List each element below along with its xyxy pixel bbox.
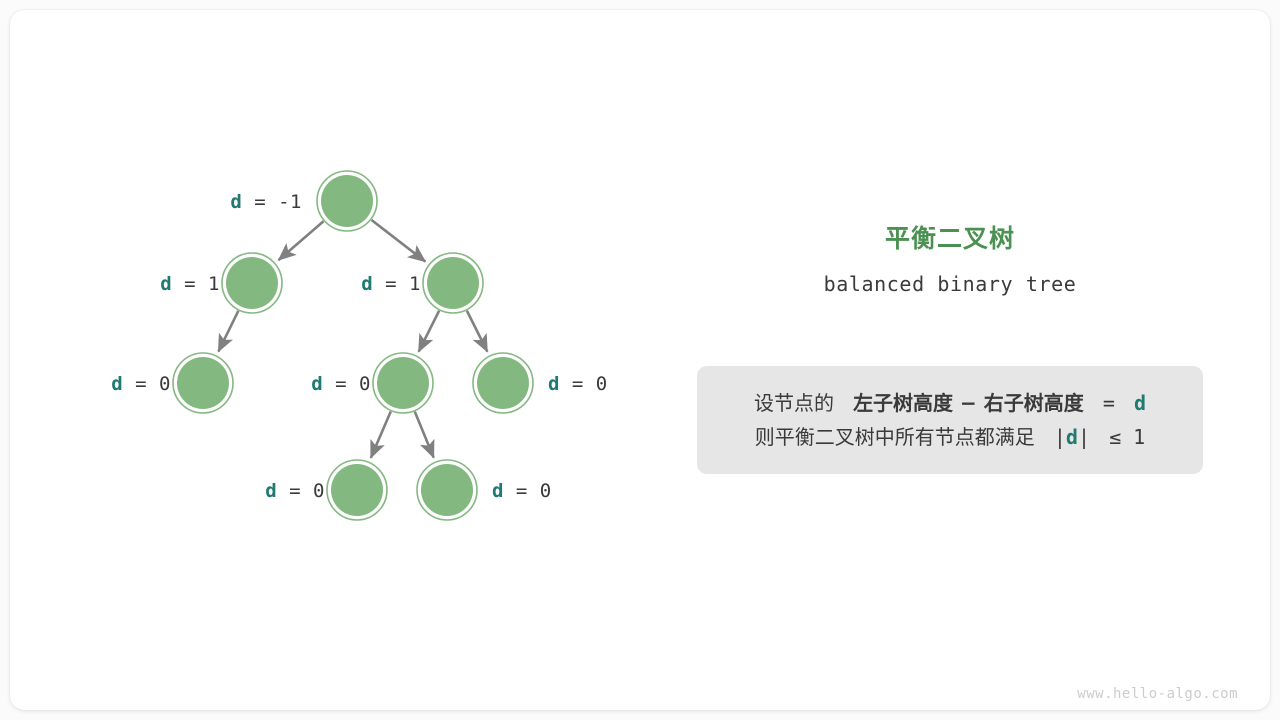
definition-equals: = <box>1103 391 1115 415</box>
node-balance-label: d = 0 <box>0 373 371 395</box>
definition-prefix-2: 则平衡二叉树中所有节点都满足 <box>755 425 1035 449</box>
node-disc <box>321 175 373 227</box>
definition-line-1: 设节点的 左子树高度 − 右子树高度 = d <box>697 386 1203 420</box>
definition-box: 设节点的 左子树高度 − 右子树高度 = d 则平衡二叉树中所有节点都满足 |d… <box>697 366 1203 474</box>
node-disc <box>377 357 429 409</box>
tree-node[interactable] <box>327 460 387 520</box>
node-label-variable: d <box>265 480 277 502</box>
tree-node[interactable] <box>423 253 483 313</box>
node-disc <box>421 464 473 516</box>
node-balance-label: d = 0 <box>548 373 608 395</box>
definition-variable-d: d <box>1134 391 1146 415</box>
node-label-variable: d <box>548 373 560 395</box>
node-disc <box>477 357 529 409</box>
tree-nodes <box>173 171 533 520</box>
legend-panel: 平衡二叉树 balanced binary tree 设节点的 左子树高度 − … <box>697 222 1203 296</box>
tree-edge <box>467 311 487 352</box>
node-label-variable: d <box>230 191 242 213</box>
panel-title: 平衡二叉树 <box>697 222 1203 256</box>
node-label-value: = -1 <box>242 191 302 213</box>
node-label-variable: d <box>492 480 504 502</box>
node-label-value: = 0 <box>504 480 552 502</box>
tree-edge <box>218 311 238 352</box>
tree-edge <box>372 220 426 262</box>
diagram-canvas: d = -1d = 1d = 1d = 0d = 0d = 0d = 0d = … <box>0 0 1280 720</box>
node-label-value: = 0 <box>323 373 371 395</box>
node-disc <box>427 257 479 309</box>
node-disc <box>331 464 383 516</box>
panel-subtitle: balanced binary tree <box>697 272 1203 296</box>
tree-edges <box>218 220 487 458</box>
tree-edge <box>419 311 439 352</box>
tree-edge <box>278 221 323 260</box>
node-balance-label: d = 1 <box>0 273 421 295</box>
abs-bar-close: | <box>1078 425 1090 449</box>
node-balance-label: d = 0 <box>0 480 325 502</box>
tree-edge <box>371 411 391 457</box>
node-balance-label: d = 0 <box>492 480 552 502</box>
tree-node[interactable] <box>373 353 433 413</box>
tree-node[interactable] <box>417 460 477 520</box>
abs-variable-d: d <box>1066 425 1078 449</box>
node-label-value: = 0 <box>560 373 608 395</box>
binary-tree-graphic <box>0 0 1280 720</box>
node-label-value: = 1 <box>373 273 421 295</box>
abs-bar-open: | <box>1054 425 1066 449</box>
definition-line-2: 则平衡二叉树中所有节点都满足 |d| ≤ 1 <box>697 420 1203 454</box>
definition-prefix-1: 设节点的 <box>754 391 834 415</box>
node-balance-label: d = -1 <box>0 191 302 213</box>
tree-edge <box>415 412 434 458</box>
definition-bold-term: 左子树高度 − 右子树高度 <box>853 391 1084 415</box>
tree-node[interactable] <box>473 353 533 413</box>
node-label-variable: d <box>361 273 373 295</box>
site-watermark: www.hello-algo.com <box>1077 686 1238 702</box>
tree-node[interactable] <box>317 171 377 231</box>
node-label-value: = 0 <box>277 480 325 502</box>
node-label-variable: d <box>311 373 323 395</box>
abs-relation: ≤ 1 <box>1109 425 1145 449</box>
